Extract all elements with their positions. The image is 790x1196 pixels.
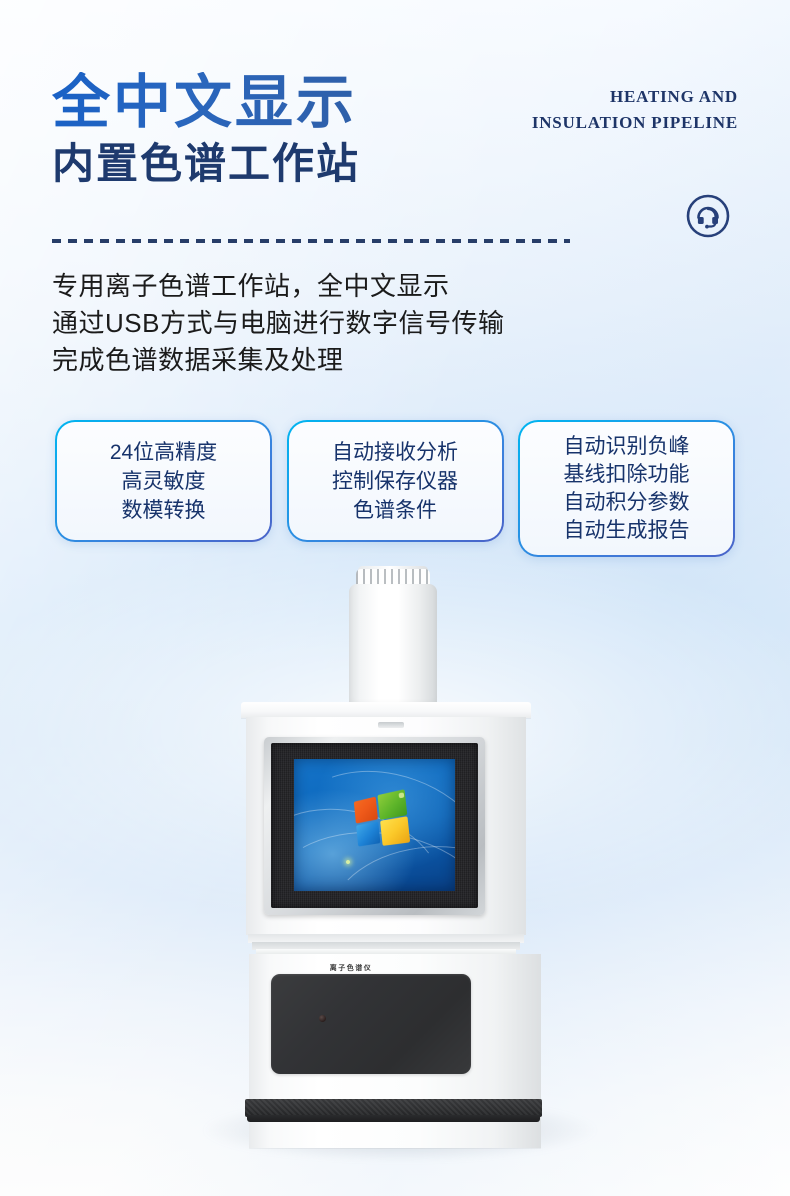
cabinet-door-knob-icon[interactable] — [319, 1015, 326, 1022]
english-subtitle: HEATING AND INSULATION PIPELINE — [438, 84, 738, 136]
windows-logo-pane-blue — [356, 821, 380, 846]
feature-box-3-line-4: 自动生成报告 — [526, 517, 727, 545]
english-line-1: HEATING AND — [610, 87, 738, 106]
description-line-1: 专用离子色谱工作站，全中文显示 — [52, 268, 504, 305]
windows-logo-pane-red — [354, 797, 378, 824]
windows-logo-icon — [353, 790, 410, 847]
upper-unit-top — [241, 702, 531, 718]
feature-box-3-line-2: 基线扣除功能 — [526, 461, 727, 489]
cabinet-brand-label: 离子色谱仪 — [311, 963, 391, 973]
headline-line-1: 全中文显示 — [52, 72, 360, 134]
feature-box-1-line-2: 高灵敏度 — [63, 467, 264, 496]
monitor-screen[interactable] — [294, 759, 455, 891]
headset-support-icon[interactable] — [684, 192, 732, 240]
product-image: 离子色谱仪 — [0, 560, 790, 1180]
wallpaper-spark — [346, 860, 350, 864]
description-text: 专用离子色谱工作站，全中文显示 通过USB方式与电脑进行数字信号传输 完成色谱数… — [52, 268, 504, 379]
cabinet-base-edge — [247, 1115, 540, 1122]
windows-logo-pane-yellow — [380, 816, 410, 846]
feature-box-1[interactable]: 24位高精度 高灵敏度 数模转换 — [55, 420, 272, 542]
feature-box-3-line-3: 自动积分参数 — [526, 489, 727, 517]
headline-line-2: 内置色谱工作站 — [52, 140, 360, 188]
feature-box-group: 24位高精度 高灵敏度 数模转换 自动接收分析 控制保存仪器 色谱条件 自动识别… — [55, 420, 735, 566]
feature-box-1-line-1: 24位高精度 — [63, 438, 264, 467]
description-line-2: 通过USB方式与电脑进行数字信号传输 — [52, 305, 504, 342]
feature-box-2-line-1: 自动接收分析 — [295, 438, 496, 467]
feature-box-3[interactable]: 自动识别负峰 基线扣除功能 自动积分参数 自动生成报告 — [518, 420, 735, 557]
feature-box-2-line-2: 控制保存仪器 — [295, 467, 496, 496]
feature-box-1-line-3: 数模转换 — [63, 496, 264, 525]
page-title: 全中文显示 内置色谱工作站 — [52, 72, 360, 188]
cabinet-dark-door[interactable] — [271, 974, 471, 1074]
description-line-3: 完成色谱数据采集及处理 — [52, 342, 504, 379]
upper-unit-slot — [378, 722, 404, 728]
feature-box-2[interactable]: 自动接收分析 控制保存仪器 色谱条件 — [287, 420, 504, 542]
dashed-divider — [52, 239, 570, 243]
english-line-2: INSULATION PIPELINE — [438, 110, 738, 136]
promo-page: 全中文显示 内置色谱工作站 HEATING AND INSULATION PIP… — [0, 0, 790, 1196]
separation-column — [349, 584, 437, 706]
feature-box-2-line-3: 色谱条件 — [295, 496, 496, 525]
feature-box-3-line-1: 自动识别负峰 — [526, 433, 727, 461]
